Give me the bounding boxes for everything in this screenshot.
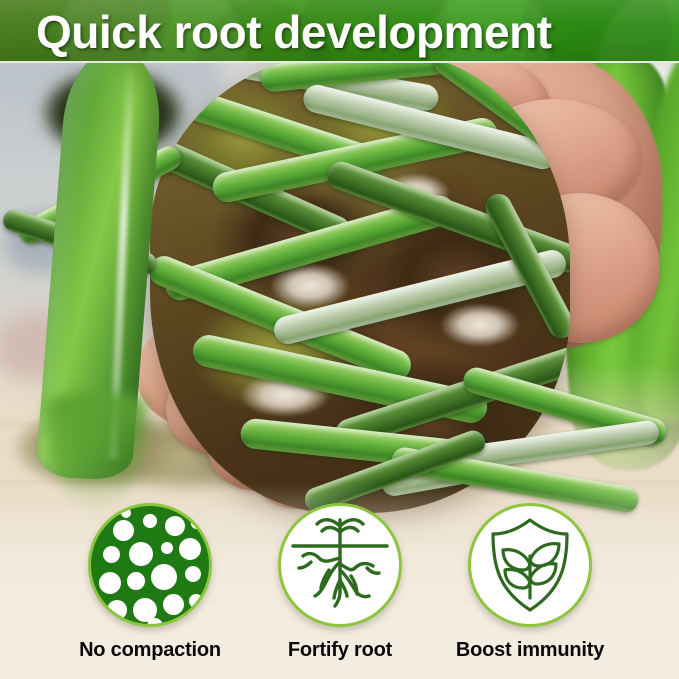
shield-leaf-icon — [468, 503, 592, 627]
feature-label: Boost immunity — [435, 639, 625, 662]
feature-label: Fortify root — [245, 639, 435, 662]
plant-roots-icon — [278, 503, 402, 627]
feature-fortify-root[interactable]: Fortify root — [245, 503, 435, 662]
feature-boost-immunity[interactable]: Boost immunity — [435, 503, 625, 662]
porous-dots-icon — [88, 503, 212, 627]
product-feature-poster: Quick root development — [0, 0, 679, 679]
feature-label: No compaction — [55, 639, 245, 662]
feature-no-compaction[interactable]: No compaction — [55, 503, 245, 662]
page-title: Quick root development — [36, 6, 552, 58]
feature-badge-row: No compaction — [0, 503, 679, 679]
header-banner: Quick root development — [0, 0, 679, 63]
